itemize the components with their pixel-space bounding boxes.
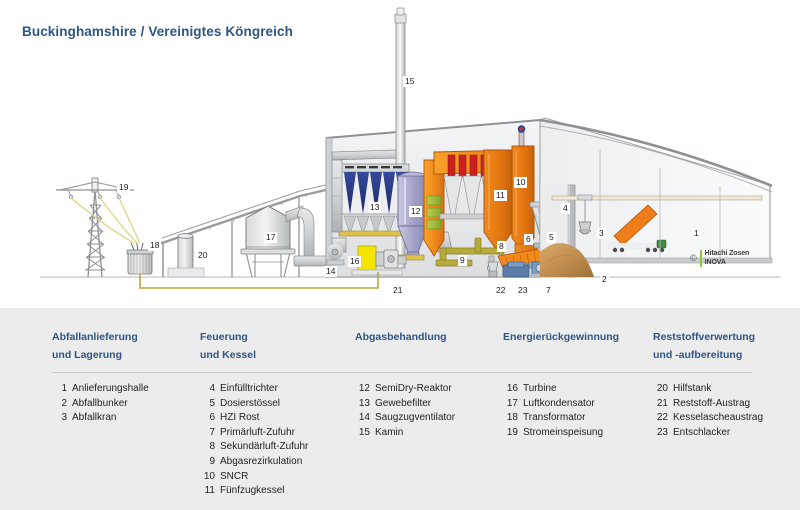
list-item[interactable]: 16Turbine <box>503 382 603 397</box>
item-number: 3 <box>52 411 67 426</box>
legend-head-5-line2: und -aufbereitung <box>653 348 755 362</box>
legend-head-2-line1: Feuerung <box>200 330 256 344</box>
power-lines-19 <box>71 198 140 243</box>
item-number: 13 <box>355 397 370 412</box>
list-item[interactable]: 15Kamin <box>355 426 455 441</box>
callout-6[interactable]: 6 <box>524 234 533 245</box>
item-label: SemiDry-Reaktor <box>375 382 452 397</box>
item-number: 10 <box>200 470 215 485</box>
luftkondensator-17 <box>241 206 330 277</box>
item-label: Saugzugventilator <box>375 411 455 426</box>
item-label: Anlieferungshalle <box>72 382 149 397</box>
item-number: 23 <box>653 426 668 441</box>
callout-10[interactable]: 10 <box>514 177 527 188</box>
legend-column-abgasbehandlung: Abgasbehandlung <box>355 330 447 348</box>
item-label: Sekundärluft-Zufuhr <box>220 440 308 455</box>
item-label: Luftkondensator <box>523 397 595 412</box>
item-label: Hilfstank <box>673 382 711 397</box>
legend-divider <box>52 372 752 373</box>
copyright-icon: © <box>690 254 697 263</box>
list-item[interactable]: 13Gewebefilter <box>355 397 455 412</box>
callout-2[interactable]: 2 <box>600 274 609 285</box>
item-label: Entschlacker <box>673 426 730 441</box>
list-item[interactable]: 8Sekundärluft-Zufuhr <box>200 440 308 455</box>
legend-column-reststoffverwertung: Reststoffverwertung und -aufbereitung <box>653 330 755 366</box>
item-number: 22 <box>653 411 668 426</box>
callout-3[interactable]: 3 <box>597 228 606 239</box>
list-item[interactable]: 21Reststoff-Austrag <box>653 397 763 412</box>
legend-items-abfallanlieferung: 1Anlieferungshalle 2Abfallbunker 3Abfall… <box>52 382 149 426</box>
plant-cross-section-svg <box>0 0 800 308</box>
callout-16[interactable]: 16 <box>348 256 361 267</box>
list-item[interactable]: 9Abgasrezirkulation <box>200 455 308 470</box>
legend-head-4-line1: Energierückgewinnung <box>503 330 619 344</box>
list-item[interactable]: 6HZI Rost <box>200 411 308 426</box>
callout-14[interactable]: 14 <box>324 266 337 277</box>
item-number: 16 <box>503 382 518 397</box>
item-number: 2 <box>52 397 67 412</box>
callout-22[interactable]: 22 <box>494 285 507 296</box>
item-label: Stromeinspeisung <box>523 426 603 441</box>
item-label: Turbine <box>523 382 557 397</box>
legend-column-abfallanlieferung: Abfallanlieferung und Lagerung <box>52 330 138 366</box>
callout-12[interactable]: 12 <box>409 206 422 217</box>
item-label: Einfülltrichter <box>220 382 278 397</box>
callout-5[interactable]: 5 <box>547 232 556 243</box>
hitachi-zosen-inova-logo: © Hitachi Zosen INOVA <box>690 250 749 267</box>
list-item[interactable]: 4Einfülltrichter <box>200 382 308 397</box>
item-number: 8 <box>200 440 215 455</box>
legend-head-2-line2: und Kessel <box>200 348 256 362</box>
callout-23[interactable]: 23 <box>516 285 529 296</box>
item-label: Transformator <box>523 411 585 426</box>
callout-15[interactable]: 15 <box>403 76 416 87</box>
callout-18[interactable]: 18 <box>148 240 161 251</box>
legend-head-1-line1: Abfallanlieferung <box>52 330 138 344</box>
item-number: 12 <box>355 382 370 397</box>
callout-1[interactable]: 1 <box>692 228 701 239</box>
list-item[interactable]: 12SemiDry-Reaktor <box>355 382 455 397</box>
list-item[interactable]: 11Fünfzugkessel <box>200 484 308 499</box>
legend-items-energierueckgewinnung: 16Turbine 17Luftkondensator 18Transforma… <box>503 382 603 440</box>
callout-7[interactable]: 7 <box>544 285 553 296</box>
item-label: Dosierstössel <box>220 397 280 412</box>
callout-19[interactable]: 19 <box>117 182 130 193</box>
callout-20[interactable]: 20 <box>196 250 209 261</box>
legend-items-reststoffverwertung: 20Hilfstank 21Reststoff-Austrag 22Kessel… <box>653 382 763 440</box>
callout-21[interactable]: 21 <box>391 285 404 296</box>
item-number: 19 <box>503 426 518 441</box>
callout-17[interactable]: 17 <box>264 232 277 243</box>
legend-items-abgasbehandlung: 12SemiDry-Reaktor 13Gewebefilter 14Saugz… <box>355 382 455 440</box>
item-label: Abfallkran <box>72 411 116 426</box>
item-label: SNCR <box>220 470 248 485</box>
kesselascheaustrag-22 <box>488 262 498 277</box>
item-number: 6 <box>200 411 215 426</box>
item-label: Fünfzugkessel <box>220 484 284 499</box>
logo-line-2: INOVA <box>705 259 750 268</box>
callout-13[interactable]: 13 <box>368 202 381 213</box>
list-item[interactable]: 19Stromeinspeisung <box>503 426 603 441</box>
diagram-page: Buckinghamshire / Vereinigtes Köngreich <box>0 0 800 510</box>
callout-4[interactable]: 4 <box>561 203 570 214</box>
list-item[interactable]: 14Saugzugventilator <box>355 411 455 426</box>
item-number: 18 <box>503 411 518 426</box>
item-label: Primärluft-Zufuhr <box>220 426 295 441</box>
list-item[interactable]: 18Transformator <box>503 411 603 426</box>
item-label: Reststoff-Austrag <box>673 397 750 412</box>
item-label: Kamin <box>375 426 403 441</box>
legend-items-feuerung: 4Einfülltrichter 5Dosierstössel 6HZI Ros… <box>200 382 308 499</box>
list-item[interactable]: 2Abfallbunker <box>52 397 149 412</box>
callout-8[interactable]: 8 <box>497 241 506 252</box>
plant-diagram: 1 2 3 4 5 6 7 8 9 10 11 12 13 14 15 16 1… <box>0 0 800 308</box>
item-number: 17 <box>503 397 518 412</box>
item-number: 20 <box>653 382 668 397</box>
list-item[interactable]: 17Luftkondensator <box>503 397 603 412</box>
logo-line-1: Hitachi Zosen <box>705 250 750 259</box>
item-number: 4 <box>200 382 215 397</box>
list-item[interactable]: 5Dosierstössel <box>200 397 308 412</box>
legend-column-feuerung: Feuerung und Kessel <box>200 330 256 366</box>
legend-column-energierueckgewinnung: Energierückgewinnung <box>503 330 619 348</box>
legend-head-3-line1: Abgasbehandlung <box>355 330 447 344</box>
item-label: Gewebefilter <box>375 397 431 412</box>
list-item[interactable]: 23Entschlacker <box>653 426 763 441</box>
item-number: 21 <box>653 397 668 412</box>
item-label: HZI Rost <box>220 411 259 426</box>
list-item[interactable]: 22Kesselascheaustrag <box>653 411 763 426</box>
list-item[interactable]: 3Abfallkran <box>52 411 149 426</box>
legend-head-1-line2: und Lagerung <box>52 348 138 362</box>
list-item[interactable]: 20Hilfstank <box>653 382 763 397</box>
item-label: Abgasrezirkulation <box>220 455 302 470</box>
item-number: 14 <box>355 411 370 426</box>
item-number: 11 <box>200 484 215 499</box>
item-number: 5 <box>200 397 215 412</box>
list-item[interactable]: 7Primärluft-Zufuhr <box>200 426 308 441</box>
item-label: Abfallbunker <box>72 397 128 412</box>
list-item[interactable]: 10SNCR <box>200 470 308 485</box>
legend-head-5-line1: Reststoffverwertung <box>653 330 755 344</box>
list-item[interactable]: 1Anlieferungshalle <box>52 382 149 397</box>
item-number: 7 <box>200 426 215 441</box>
item-number: 9 <box>200 455 215 470</box>
callout-9[interactable]: 9 <box>458 255 467 266</box>
item-number: 1 <box>52 382 67 397</box>
item-label: Kesselascheaustrag <box>673 411 763 426</box>
item-number: 15 <box>355 426 370 441</box>
logo-accent-bar <box>700 250 702 267</box>
callout-11[interactable]: 11 <box>494 190 507 201</box>
